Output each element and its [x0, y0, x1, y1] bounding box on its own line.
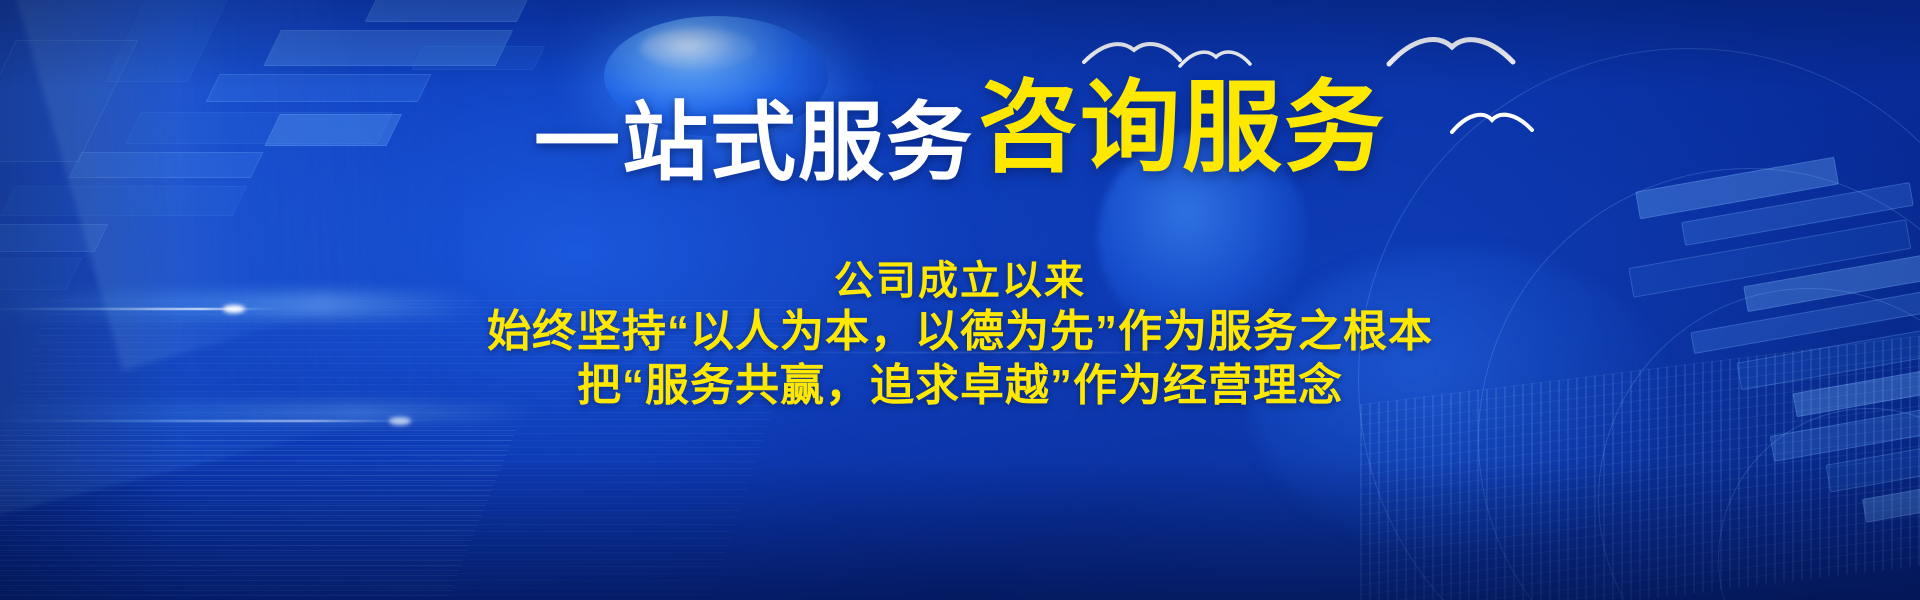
vignette-top: [0, 0, 1920, 90]
seagull-icon: [1082, 36, 1182, 70]
seagull-icon: [1178, 46, 1252, 72]
body-line-2: 始终坚持“以人为本，以德为先”作为服务之根本: [0, 305, 1920, 359]
headline-white-text: 一站式服务: [534, 95, 974, 191]
body-line-1: 公司成立以来: [0, 258, 1920, 305]
headline-yellow-text: 咨询服务: [978, 72, 1386, 184]
light-streak-lower-icon: [0, 420, 440, 422]
seagull-icon: [1386, 30, 1516, 72]
body-line-3: 把“服务共赢，追求卓越”作为经营理念: [0, 359, 1920, 413]
scanline-texture-bottom-left: [0, 430, 516, 600]
promo-banner: 一站式服务咨询服务 公司成立以来 始终坚持“以人为本，以德为先”作为服务之根本 …: [0, 0, 1920, 600]
body-copy-block: 公司成立以来 始终坚持“以人为本，以德为先”作为服务之根本 把“服务共赢，追求卓…: [0, 258, 1920, 413]
headline-row: 一站式服务咨询服务: [0, 78, 1920, 186]
vignette-bottom: [0, 460, 1920, 600]
